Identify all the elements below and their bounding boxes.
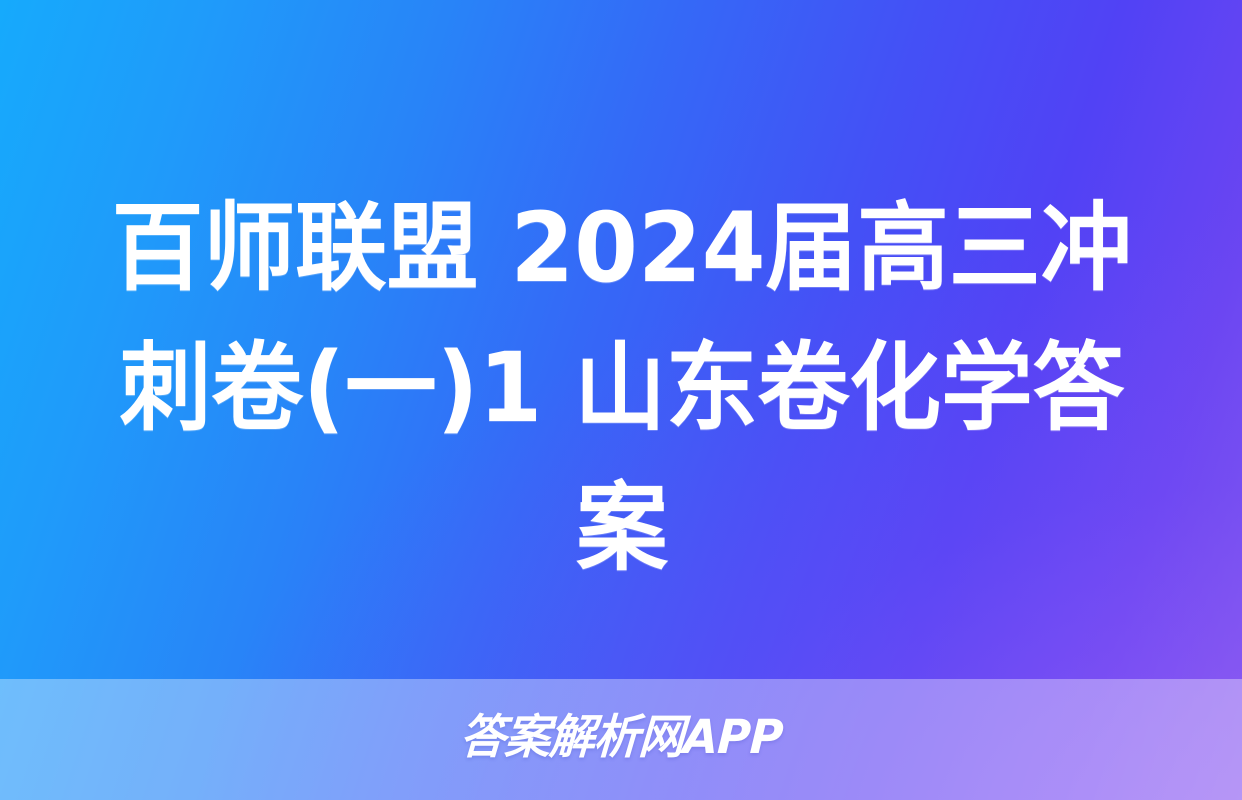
watermark-container: 答案解析网APP — [0, 706, 1242, 770]
page-title: 百师联盟 2024届高三冲刺卷(一)1 山东卷化学答案 — [102, 178, 1141, 598]
poster-canvas: 百师联盟 2024届高三冲刺卷(一)1 山东卷化学答案 答案解析网APP — [0, 0, 1242, 800]
app-watermark-label: 答案解析网APP — [458, 710, 783, 766]
